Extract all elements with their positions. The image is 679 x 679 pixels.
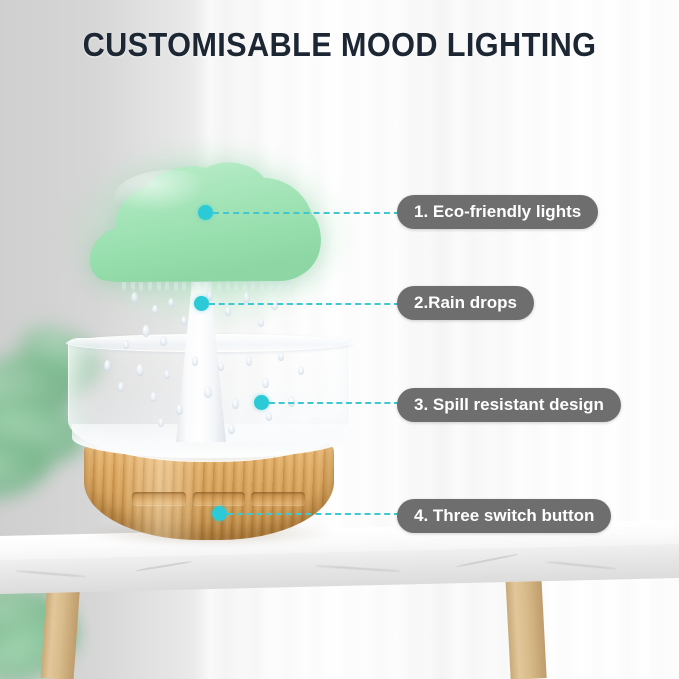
callout-dot-3 <box>254 395 269 410</box>
infographic-scene: CUSTOMISABLE MOOD LIGHTING 1. Eco-friend… <box>0 0 679 679</box>
switch-button-3[interactable] <box>251 492 305 505</box>
callout-label-three-switch-button[interactable]: 4. Three switch button <box>397 499 611 533</box>
callout-dot-4 <box>212 506 227 521</box>
callout-label-eco-friendly-lights[interactable]: 1. Eco-friendly lights <box>397 195 598 229</box>
callout-label-rain-drops[interactable]: 2.Rain drops <box>397 286 534 320</box>
leader-line-1 <box>213 212 400 214</box>
callout-dot-1 <box>198 205 213 220</box>
leader-line-2 <box>209 303 400 305</box>
cloud-rain-humidifier <box>0 0 679 679</box>
leader-line-3 <box>269 402 400 404</box>
cloud-lamp <box>86 158 324 286</box>
switch-button-1[interactable] <box>132 492 186 505</box>
callout-dot-2 <box>194 296 209 311</box>
callout-label-spill-resistant-design[interactable]: 3. Spill resistant design <box>397 388 621 422</box>
switch-button-2[interactable] <box>193 492 245 505</box>
leader-line-4 <box>227 513 400 515</box>
page-title: CUSTOMISABLE MOOD LIGHTING <box>24 26 655 64</box>
